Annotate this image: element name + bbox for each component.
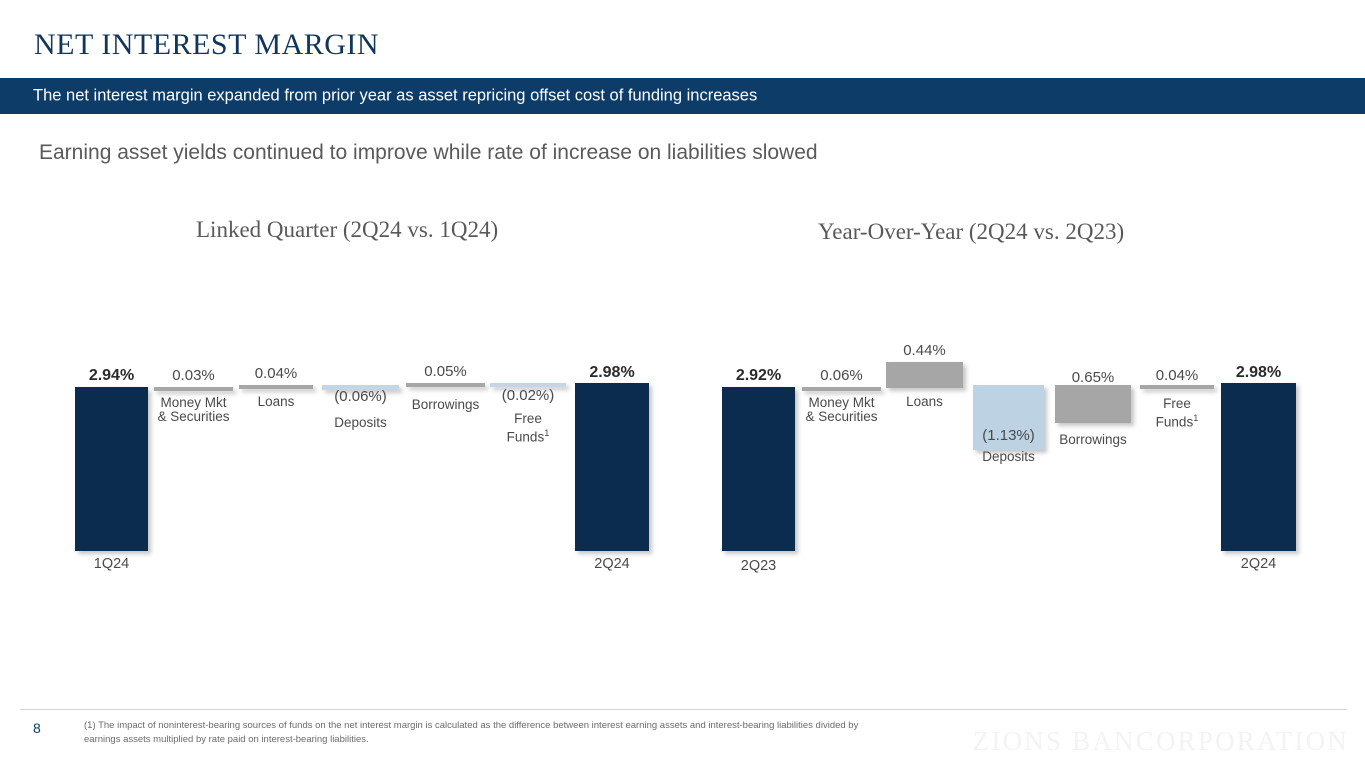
waterfall-chart-year-over-year: 2.92%2Q230.06%Money Mkt & Securities0.44… [0,0,1365,768]
waterfall-bar-free-funds- [1140,385,1214,389]
waterfall-value-label: 0.05% [406,363,485,380]
waterfall-axis-label: 2Q24 [1221,556,1296,572]
waterfall-value-label: 0.04% [1140,367,1214,384]
subheadline: Earning asset yields continued to improv… [39,141,818,165]
waterfall-bar-borrowings [406,383,485,387]
waterfall-value-label: 0.04% [239,365,313,382]
waterfall-value-label: (1.13%) [969,427,1048,444]
waterfall-value-label: 2.98% [575,364,649,382]
waterfall-category-label: Money Mkt & Securities [149,396,238,424]
waterfall-category-label: Deposits [322,416,399,430]
waterfall-bar-loans [886,362,963,388]
headline-banner: The net interest margin expanded from pr… [0,78,1365,114]
waterfall-value-label: (0.06%) [322,388,399,405]
waterfall-bar-loans [239,385,313,389]
waterfall-value-label: (0.02%) [490,387,566,404]
page-title: NET INTEREST MARGIN [34,28,379,62]
footnote: (1) The impact of noninterest-bearing so… [84,719,864,747]
waterfall-bar-money-mkt-securities [154,387,233,391]
page-number: 8 [33,720,41,736]
waterfall-category-label: Loans [886,395,963,409]
waterfall-bar-deposits [322,385,399,390]
waterfall-bar-1q24 [75,387,148,551]
chart-title-year-over-year: Year-Over-Year (2Q24 vs. 2Q23) [818,219,1124,245]
chart-title-linked-quarter: Linked Quarter (2Q24 vs. 1Q24) [196,217,498,243]
waterfall-bar-deposits [973,385,1044,450]
waterfall-bar-borrowings [1055,385,1131,423]
headline-banner-text: The net interest margin expanded from pr… [33,87,757,106]
waterfall-category-label: Free Funds1 [1143,397,1211,430]
waterfall-category-label: Borrowings [406,398,485,412]
waterfall-value-label: 0.03% [154,367,233,384]
footer-divider [20,709,1347,710]
waterfall-bar-free-funds- [490,383,566,387]
waterfall-category-label: Free Funds1 [494,412,562,445]
waterfall-value-label: 2.94% [75,367,148,385]
waterfall-bar-money-mkt-securities [802,387,881,391]
waterfall-category-label: Loans [239,395,313,409]
waterfall-value-label: 2.98% [1221,364,1296,382]
waterfall-category-label: Deposits [969,450,1048,464]
waterfall-bar-2q24 [575,383,649,551]
waterfall-bar-2q24 [1221,383,1296,551]
waterfall-chart-linked-quarter: 2.94%1Q240.03%Money Mkt & Securities0.04… [0,0,1365,768]
waterfall-axis-label: 2Q24 [575,556,649,572]
company-logo-wordmark: ZIONS BANCORPORATION [973,726,1349,757]
waterfall-value-label: 0.06% [802,367,881,384]
waterfall-axis-label: 1Q24 [75,556,148,572]
waterfall-value-label: 0.44% [886,342,963,359]
waterfall-category-label: Money Mkt & Securities [797,396,886,424]
waterfall-bar-2q23 [722,387,795,551]
waterfall-value-label: 2.92% [722,367,795,385]
waterfall-axis-label: 2Q23 [722,558,795,574]
waterfall-value-label: 0.65% [1055,369,1131,386]
waterfall-category-label: Borrowings [1051,433,1135,447]
